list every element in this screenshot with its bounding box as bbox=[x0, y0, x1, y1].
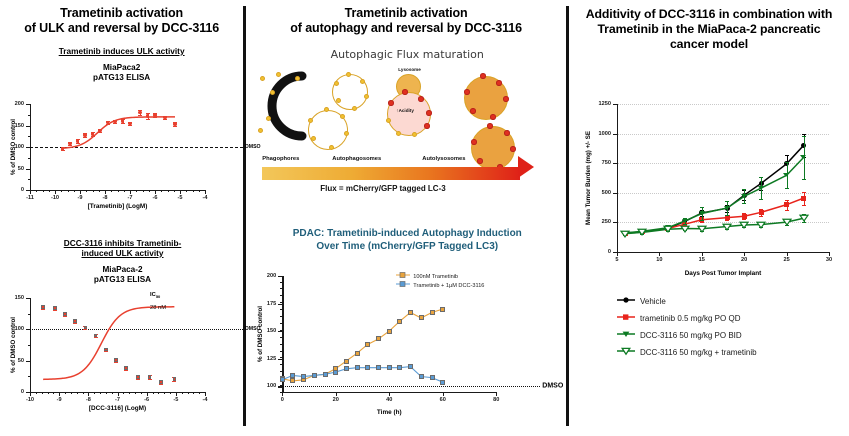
data-point bbox=[697, 224, 707, 234]
chart-autophagy-flux-over-time: 020406080100125150175200Time (h)% of DMS… bbox=[246, 266, 568, 428]
legend-label: DCC-3116 50 mg/kg + trametinib bbox=[640, 348, 757, 357]
data-point bbox=[620, 229, 630, 239]
x-minor-tick bbox=[182, 392, 183, 394]
y-minor-tick bbox=[280, 392, 283, 393]
x-minor-tick bbox=[193, 190, 194, 192]
x-minor-tick bbox=[36, 190, 37, 192]
chart-trametinib-dose-response: -11-10-9-8-7-6-5-4050100150200[Trametini… bbox=[0, 96, 245, 216]
error-cap bbox=[759, 199, 763, 200]
lysosome-label: Lysosome bbox=[398, 67, 421, 72]
y-minor-tick bbox=[280, 288, 283, 289]
error-cap bbox=[785, 188, 789, 189]
lc3-dot bbox=[352, 106, 357, 111]
error-cap bbox=[172, 381, 176, 382]
lc3-dot bbox=[396, 131, 401, 136]
y-tick-label: 1000 bbox=[599, 131, 611, 137]
error-cap bbox=[759, 177, 763, 178]
data-point bbox=[159, 380, 163, 384]
mcherry-dot bbox=[388, 100, 394, 106]
data-point bbox=[355, 365, 360, 370]
mcherry-dot bbox=[504, 130, 510, 136]
data-point bbox=[76, 139, 80, 143]
stage-label-autophagosomes: Autophagosomes bbox=[332, 156, 381, 162]
data-point bbox=[53, 306, 57, 310]
error-cap bbox=[113, 123, 117, 124]
x-minor-tick bbox=[135, 392, 136, 394]
series-line bbox=[246, 266, 568, 428]
y-tick bbox=[278, 276, 282, 277]
y-minor-tick bbox=[280, 330, 283, 331]
x-minor-tick bbox=[155, 190, 156, 192]
data-point bbox=[800, 155, 806, 159]
x-tick-label: 30 bbox=[826, 257, 832, 263]
y-tick-label: 100 bbox=[267, 383, 276, 389]
chart-a-cellline: MiaPaca2 bbox=[0, 63, 243, 73]
x-minor-tick bbox=[53, 392, 54, 394]
error-cap bbox=[785, 162, 789, 163]
panel-left: Trametinib activation of ULK and reversa… bbox=[0, 0, 243, 436]
data-point bbox=[163, 116, 167, 120]
x-tick-label: 25 bbox=[783, 257, 789, 263]
legend-label: DCC-3116 50 mg/kg PO BID bbox=[640, 331, 742, 340]
x-tick-label: -10 bbox=[51, 195, 59, 201]
data-point bbox=[724, 206, 730, 210]
flux-arrow-head bbox=[518, 156, 534, 178]
legend-tumor-burden: Vehicletrametinib 0.5 mg/kg PO QDDCC-311… bbox=[569, 296, 849, 376]
reference-line-label: DMSO bbox=[542, 383, 563, 390]
data-point bbox=[148, 375, 152, 379]
reference-line bbox=[30, 329, 243, 330]
x-minor-tick bbox=[111, 190, 112, 192]
x-tick-label: 20 bbox=[333, 397, 339, 403]
x-minor-tick bbox=[205, 190, 206, 192]
error-cap bbox=[802, 179, 806, 180]
error-cap bbox=[128, 125, 132, 126]
error-cap bbox=[124, 370, 128, 371]
x-tick-label: -10 bbox=[26, 397, 34, 403]
data-point bbox=[397, 319, 402, 324]
data-point bbox=[387, 365, 392, 370]
data-point bbox=[739, 220, 749, 230]
x-minor-tick bbox=[174, 190, 175, 192]
legend-item: trametinib 0.5 mg/kg PO QD bbox=[617, 313, 740, 324]
mcherry-dot bbox=[470, 108, 476, 114]
x-tick-label: 0 bbox=[281, 397, 284, 403]
data-point bbox=[722, 222, 732, 232]
data-point bbox=[146, 114, 150, 118]
error-cap bbox=[802, 136, 806, 137]
reference-line bbox=[282, 386, 540, 387]
panel-right-title-line1: Additivity of DCC-3116 in combination wi… bbox=[575, 7, 843, 22]
y-minor-tick bbox=[28, 169, 31, 170]
error-cap bbox=[114, 362, 118, 363]
data-point bbox=[365, 365, 370, 370]
y-minor-tick bbox=[28, 115, 31, 116]
y-minor-tick bbox=[28, 361, 31, 362]
data-point bbox=[323, 372, 328, 377]
gridline bbox=[617, 193, 829, 194]
error-cap bbox=[91, 136, 95, 137]
chart-a-subtitle: Trametinib induces ULK activity bbox=[0, 46, 243, 56]
data-point bbox=[290, 378, 295, 383]
y-tick bbox=[278, 331, 282, 332]
x-tick bbox=[659, 252, 660, 256]
y-minor-tick bbox=[280, 371, 283, 372]
stage-label-phagophores: Phagophores bbox=[262, 156, 299, 162]
chart-b-cellline: MiaPaca-2 bbox=[0, 265, 245, 275]
x-minor-tick bbox=[147, 392, 148, 394]
x-minor-tick bbox=[176, 392, 177, 394]
x-axis bbox=[617, 252, 829, 253]
x-minor-tick bbox=[65, 392, 66, 394]
x-minor-tick bbox=[106, 392, 107, 394]
gridline bbox=[617, 134, 829, 135]
y-minor-tick bbox=[280, 316, 283, 317]
x-minor-tick bbox=[30, 392, 31, 394]
error-cap bbox=[725, 215, 729, 216]
diagram-heading: Autophagic Flux maturation bbox=[246, 48, 568, 61]
flux-arrow-bar bbox=[262, 167, 520, 180]
data-point bbox=[104, 348, 108, 352]
x-minor-tick bbox=[100, 392, 101, 394]
panel-right-title-line2: Trametinib in the MiaPaca-2 pancreatic bbox=[575, 22, 843, 37]
legend-symbol bbox=[617, 330, 635, 341]
x-minor-tick bbox=[168, 190, 169, 192]
mcherry-dot bbox=[490, 114, 496, 120]
x-minor-tick bbox=[143, 190, 144, 192]
lc3-dot bbox=[364, 94, 369, 99]
x-tick-label: -6 bbox=[144, 397, 149, 403]
data-point bbox=[759, 210, 764, 215]
legend-item: DCC-3116 50 mg/kg + trametinib bbox=[617, 347, 757, 358]
x-minor-tick bbox=[99, 190, 100, 192]
data-point bbox=[355, 351, 360, 356]
data-point bbox=[801, 196, 806, 201]
x-minor-tick bbox=[49, 190, 50, 192]
x-minor-tick bbox=[61, 190, 62, 192]
data-point bbox=[376, 365, 381, 370]
y-axis-title: % of DMSO control bbox=[10, 317, 17, 373]
y-minor-tick bbox=[28, 345, 31, 346]
data-point bbox=[376, 336, 381, 341]
mcherry-dot bbox=[418, 96, 424, 102]
x-minor-tick bbox=[199, 392, 200, 394]
x-minor-tick bbox=[93, 190, 94, 192]
data-point bbox=[782, 217, 792, 227]
x-tick-label: -6 bbox=[153, 195, 158, 201]
data-point bbox=[725, 215, 730, 220]
error-cap bbox=[173, 126, 177, 127]
x-tick bbox=[443, 392, 444, 396]
mcherry-dot bbox=[487, 123, 493, 129]
ic50-label: IC50 bbox=[150, 292, 160, 299]
x-tick bbox=[702, 252, 703, 256]
data-point bbox=[758, 186, 764, 190]
error-cap bbox=[41, 309, 45, 310]
error-cap bbox=[121, 123, 125, 124]
y-tick-label: 150 bbox=[267, 328, 276, 334]
data-point bbox=[408, 364, 413, 369]
error-cap bbox=[785, 155, 789, 156]
x-tick-label: -7 bbox=[115, 397, 120, 403]
x-minor-tick bbox=[80, 190, 81, 192]
y-minor-tick bbox=[280, 344, 283, 345]
x-axis-title: [Trametinib] (LogM) bbox=[88, 203, 148, 210]
y-tick-label: 200 bbox=[267, 273, 276, 279]
mcherry-dot bbox=[471, 139, 477, 145]
error-cap bbox=[785, 200, 789, 201]
y-tick bbox=[613, 104, 617, 105]
error-cap bbox=[153, 117, 157, 118]
data-point bbox=[783, 173, 789, 177]
y-tick-label: 50 bbox=[18, 358, 24, 364]
y-minor-tick bbox=[28, 190, 31, 191]
y-minor-tick bbox=[280, 302, 283, 303]
x-tick bbox=[282, 392, 283, 396]
y-axis-title: % of DMSO control bbox=[10, 119, 17, 175]
x-tick-label: -9 bbox=[57, 397, 62, 403]
mcherry-dot bbox=[464, 89, 470, 95]
y-tick-label: 125 bbox=[267, 356, 276, 362]
figure-root: Trametinib activation of ULK and reversa… bbox=[0, 0, 849, 436]
x-tick-label: -8 bbox=[86, 397, 91, 403]
data-point bbox=[756, 220, 766, 230]
x-minor-tick bbox=[161, 190, 162, 192]
chart-dcc3116-dose-response: -10-9-8-7-6-5-4050100150[DCC-3116] (LogM… bbox=[0, 288, 245, 418]
error-cap bbox=[63, 316, 67, 317]
y-tick-label: 500 bbox=[602, 190, 611, 196]
x-minor-tick bbox=[129, 392, 130, 394]
x-tick bbox=[389, 392, 390, 396]
x-tick-label: 60 bbox=[440, 397, 446, 403]
data-point bbox=[128, 122, 132, 126]
data-point bbox=[663, 224, 673, 234]
x-tick-label: -7 bbox=[128, 195, 133, 201]
chart-b-subtitle-line1: DCC-3116 inhibits Trametinib- bbox=[0, 238, 245, 248]
x-minor-tick bbox=[124, 190, 125, 192]
x-tick-label: -8 bbox=[103, 195, 108, 201]
x-minor-tick bbox=[83, 392, 84, 394]
fit-curve bbox=[0, 288, 245, 418]
lc3-dot bbox=[329, 145, 334, 150]
x-minor-tick bbox=[112, 392, 113, 394]
mcherry-dot bbox=[424, 123, 430, 129]
chart-a-assay: pATG13 ELISA bbox=[0, 73, 243, 83]
data-point bbox=[784, 202, 789, 207]
x-tick-label: 20 bbox=[741, 257, 747, 263]
data-point bbox=[682, 219, 688, 223]
data-point bbox=[430, 310, 435, 315]
y-minor-tick bbox=[280, 323, 283, 324]
x-tick-label: -9 bbox=[78, 195, 83, 201]
x-minor-tick bbox=[30, 190, 31, 192]
fit-curve bbox=[0, 96, 245, 216]
autophagy-diagram: Autophagic Flux maturation bbox=[246, 48, 568, 208]
x-tick-label: 15 bbox=[699, 257, 705, 263]
x-tick bbox=[829, 252, 830, 256]
data-point bbox=[741, 194, 747, 198]
legend-label: Vehicle bbox=[640, 297, 666, 306]
error-cap bbox=[136, 379, 140, 380]
mcherry-dot bbox=[480, 73, 486, 79]
data-point bbox=[280, 377, 285, 382]
data-point bbox=[742, 214, 747, 219]
y-tick-label: 200 bbox=[15, 101, 24, 107]
y-minor-tick bbox=[280, 364, 283, 365]
data-point bbox=[365, 342, 370, 347]
data-point bbox=[387, 329, 392, 334]
x-minor-tick bbox=[136, 190, 137, 192]
data-point bbox=[61, 147, 65, 151]
mid-chart-title-line1: PDAC: Trametinib-induced Autophagy Induc… bbox=[246, 228, 568, 241]
data-point bbox=[344, 366, 349, 371]
data-point bbox=[91, 132, 95, 136]
data-point bbox=[94, 334, 98, 338]
error-cap bbox=[53, 310, 57, 311]
x-minor-tick bbox=[105, 190, 106, 192]
y-minor-tick bbox=[280, 351, 283, 352]
y-minor-tick bbox=[28, 104, 31, 105]
x-tick-label: -5 bbox=[178, 195, 183, 201]
data-point bbox=[680, 224, 690, 234]
y-axis-title: Mean Tumor Burden (mg) +/- SE bbox=[585, 131, 592, 225]
y-tick bbox=[613, 222, 617, 223]
data-point bbox=[344, 359, 349, 364]
error-cap bbox=[742, 203, 746, 204]
error-cap bbox=[94, 337, 98, 338]
error-cap bbox=[76, 143, 80, 144]
panel-right: Additivity of DCC-3116 in combination wi… bbox=[569, 0, 849, 436]
y-tick bbox=[278, 359, 282, 360]
x-minor-tick bbox=[42, 392, 43, 394]
y-minor-tick bbox=[280, 309, 283, 310]
legend-label: 100nM Trametinib bbox=[413, 274, 458, 280]
x-minor-tick bbox=[86, 190, 87, 192]
error-cap bbox=[725, 201, 729, 202]
error-cap bbox=[802, 192, 806, 193]
error-cap bbox=[802, 205, 806, 206]
x-minor-tick bbox=[59, 392, 60, 394]
legend-symbol bbox=[617, 347, 635, 358]
error-cap bbox=[159, 384, 163, 385]
panel-right-title-line3: cancer model bbox=[575, 37, 843, 52]
mcherry-dot bbox=[510, 146, 516, 152]
gridline bbox=[617, 104, 829, 105]
y-tick-label: 250 bbox=[602, 219, 611, 225]
data-point bbox=[333, 370, 338, 375]
data-point bbox=[799, 213, 809, 223]
mid-chart-title-line2: Over Time (mCherry/GFP Tagged LC3) bbox=[246, 241, 568, 254]
error-cap bbox=[73, 323, 77, 324]
error-cap bbox=[104, 351, 108, 352]
x-tick-label: -5 bbox=[173, 397, 178, 403]
data-point bbox=[83, 133, 87, 137]
error-cap bbox=[148, 379, 152, 380]
x-tick-label: -4 bbox=[203, 397, 208, 403]
data-point bbox=[63, 312, 67, 316]
y-tick-label: 0 bbox=[21, 187, 24, 193]
x-tick-label: 10 bbox=[656, 257, 662, 263]
legend-symbol bbox=[617, 296, 635, 307]
data-point bbox=[68, 142, 72, 146]
error-cap bbox=[700, 207, 704, 208]
data-point bbox=[419, 315, 424, 320]
x-axis-title: [DCC-3116] (LogM) bbox=[89, 405, 146, 412]
y-tick bbox=[613, 134, 617, 135]
data-point bbox=[312, 373, 317, 378]
x-minor-tick bbox=[94, 392, 95, 394]
x-minor-tick bbox=[74, 190, 75, 192]
chart-miapaca2-tumor-burden: 51015202530025050075010001250Days Post T… bbox=[569, 92, 849, 292]
data-point bbox=[430, 375, 435, 380]
stage-label-autolysosomes: Autolysosomes bbox=[422, 156, 465, 162]
data-point bbox=[440, 380, 445, 385]
mcherry-dot bbox=[496, 80, 502, 86]
data-point bbox=[637, 227, 647, 237]
data-point bbox=[173, 122, 177, 126]
y-minor-tick bbox=[280, 295, 283, 296]
legend-item: Trametinib + 1µM DCC-3116 bbox=[396, 281, 484, 289]
legend-symbol bbox=[396, 272, 410, 280]
x-minor-tick bbox=[170, 392, 171, 394]
x-minor-tick bbox=[193, 392, 194, 394]
y-axis bbox=[30, 298, 31, 392]
legend-label: Trametinib + 1µM DCC-3116 bbox=[413, 283, 484, 289]
y-tick-label: 150 bbox=[15, 295, 24, 301]
y-axis bbox=[282, 276, 283, 392]
panel-middle-title: Trametinib activation of autophagy and r… bbox=[246, 0, 566, 36]
panel-middle-title-line1: Trametinib activation bbox=[252, 6, 560, 21]
error-cap bbox=[785, 210, 789, 211]
data-point bbox=[419, 374, 424, 379]
y-tick bbox=[278, 304, 282, 305]
x-tick-label: -4 bbox=[203, 195, 208, 201]
data-point bbox=[397, 365, 402, 370]
x-tick-label: 80 bbox=[493, 397, 499, 403]
x-minor-tick bbox=[205, 392, 206, 394]
y-tick-label: 0 bbox=[608, 249, 611, 255]
panel-middle: Trametinib activation of autophagy and r… bbox=[246, 0, 566, 436]
x-tick bbox=[617, 252, 618, 256]
acidity-label: ↑Acidity bbox=[396, 108, 414, 113]
x-minor-tick bbox=[130, 190, 131, 192]
panel-right-title: Additivity of DCC-3116 in combination wi… bbox=[569, 0, 849, 52]
mcherry-dot bbox=[503, 96, 509, 102]
y-tick bbox=[613, 193, 617, 194]
x-axis-title: Time (h) bbox=[377, 409, 402, 416]
gridline bbox=[617, 163, 829, 164]
error-cap bbox=[163, 119, 167, 120]
data-point bbox=[408, 310, 413, 315]
x-minor-tick bbox=[71, 392, 72, 394]
x-minor-tick bbox=[123, 392, 124, 394]
y-tick-label: 175 bbox=[267, 301, 276, 307]
x-minor-tick bbox=[186, 190, 187, 192]
data-point bbox=[699, 211, 705, 215]
data-point bbox=[136, 375, 140, 379]
x-tick bbox=[744, 252, 745, 256]
chart-b-subtitle-line2: induced ULK activity bbox=[0, 248, 245, 258]
x-tick bbox=[787, 252, 788, 256]
x-minor-tick bbox=[118, 392, 119, 394]
x-minor-tick bbox=[77, 392, 78, 394]
data-point bbox=[173, 377, 177, 381]
error-cap bbox=[146, 119, 150, 120]
y-minor-tick bbox=[280, 357, 283, 358]
error-cap bbox=[742, 189, 746, 190]
error-cap bbox=[83, 329, 87, 330]
data-point bbox=[114, 358, 118, 362]
